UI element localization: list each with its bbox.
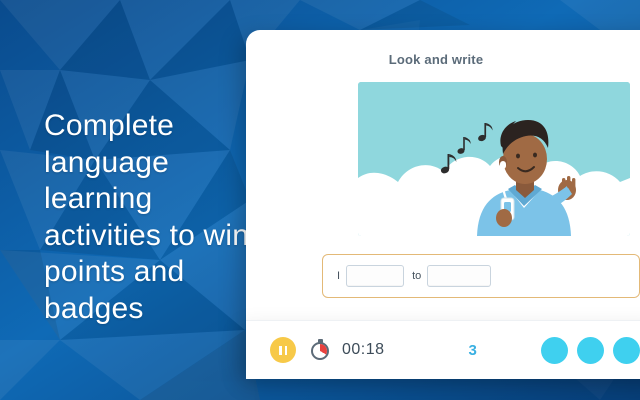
- app-screen: Complete language learning activities to…: [0, 0, 640, 400]
- timer-value: 00:18: [342, 341, 385, 359]
- stopwatch-icon: [310, 339, 332, 361]
- pause-icon: [279, 346, 287, 355]
- promo-headline: Complete language learning activities to…: [44, 108, 274, 328]
- answer-blank-2[interactable]: [427, 265, 491, 287]
- progress-dot-3[interactable]: [613, 337, 640, 364]
- progress-dot-2[interactable]: [577, 337, 604, 364]
- answer-prefix-label: I: [337, 270, 340, 282]
- activity-title: Look and write: [246, 52, 626, 67]
- answer-middle-label: to: [412, 270, 421, 282]
- pause-button[interactable]: [270, 337, 296, 363]
- progress-dots: [541, 337, 640, 364]
- answer-input-row[interactable]: I to: [322, 254, 640, 298]
- activity-toolbar: 00:18 3: [246, 320, 640, 379]
- answer-blank-1[interactable]: [346, 265, 404, 287]
- activity-illustration: [358, 82, 630, 236]
- boy-listening-to-music-with-headphones-icon: [358, 82, 630, 236]
- progress-dot-1[interactable]: [541, 337, 568, 364]
- score-value: 3: [469, 342, 477, 359]
